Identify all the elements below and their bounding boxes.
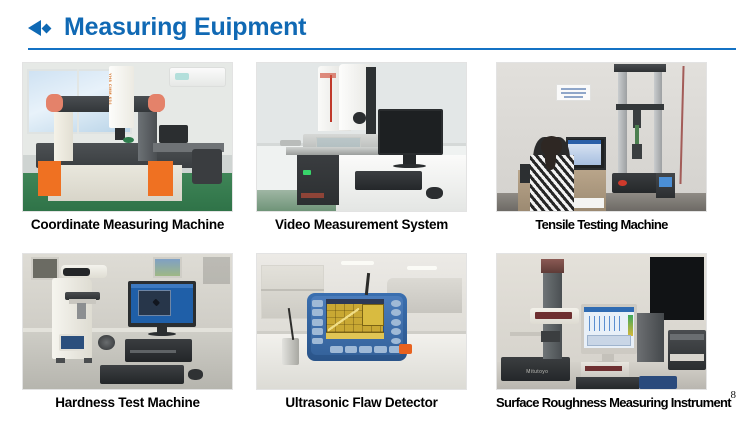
equipment-item: Mitutoyo Surface Roughness Measuring Ins…: [496, 253, 707, 410]
coordinate-measuring-machine-photo: YH8 CMM-654: [22, 62, 233, 212]
equipment-item: Ultrasonic Flaw Detector: [256, 253, 467, 410]
equipment-caption: Surface Roughness Measuring Instrument: [496, 395, 707, 410]
slide-header: Measuring Euipment: [0, 0, 750, 54]
ultrasonic-flaw-detector-photo: [256, 253, 467, 390]
equipment-item: Tensile Testing Machine: [496, 62, 707, 232]
equipment-item: YH8 CMM-654 Coordinate Measuring Machine: [22, 62, 233, 232]
equipment-caption: Ultrasonic Flaw Detector: [256, 395, 467, 410]
video-measurement-system-photo: [256, 62, 467, 212]
left-chevron-diamond-icon: [28, 20, 58, 36]
title-divider: [28, 48, 736, 50]
equipment-caption: Video Measurement System: [256, 217, 467, 232]
page-number: 8: [731, 389, 737, 401]
equipment-item: Hardness Test Machine: [22, 253, 233, 410]
equipment-caption: Tensile Testing Machine: [496, 217, 707, 232]
equipment-grid: YH8 CMM-654 Coordinate Measuring Machine…: [0, 56, 750, 422]
equipment-caption: Hardness Test Machine: [22, 395, 233, 410]
hardness-test-machine-photo: [22, 253, 233, 390]
equipment-item: Video Measurement System: [256, 62, 467, 232]
surface-roughness-measuring-instrument-photo: Mitutoyo: [496, 253, 707, 390]
page-title: Measuring Euipment: [64, 13, 306, 42]
tensile-testing-machine-photo: [496, 62, 707, 212]
equipment-caption: Coordinate Measuring Machine: [22, 217, 233, 232]
